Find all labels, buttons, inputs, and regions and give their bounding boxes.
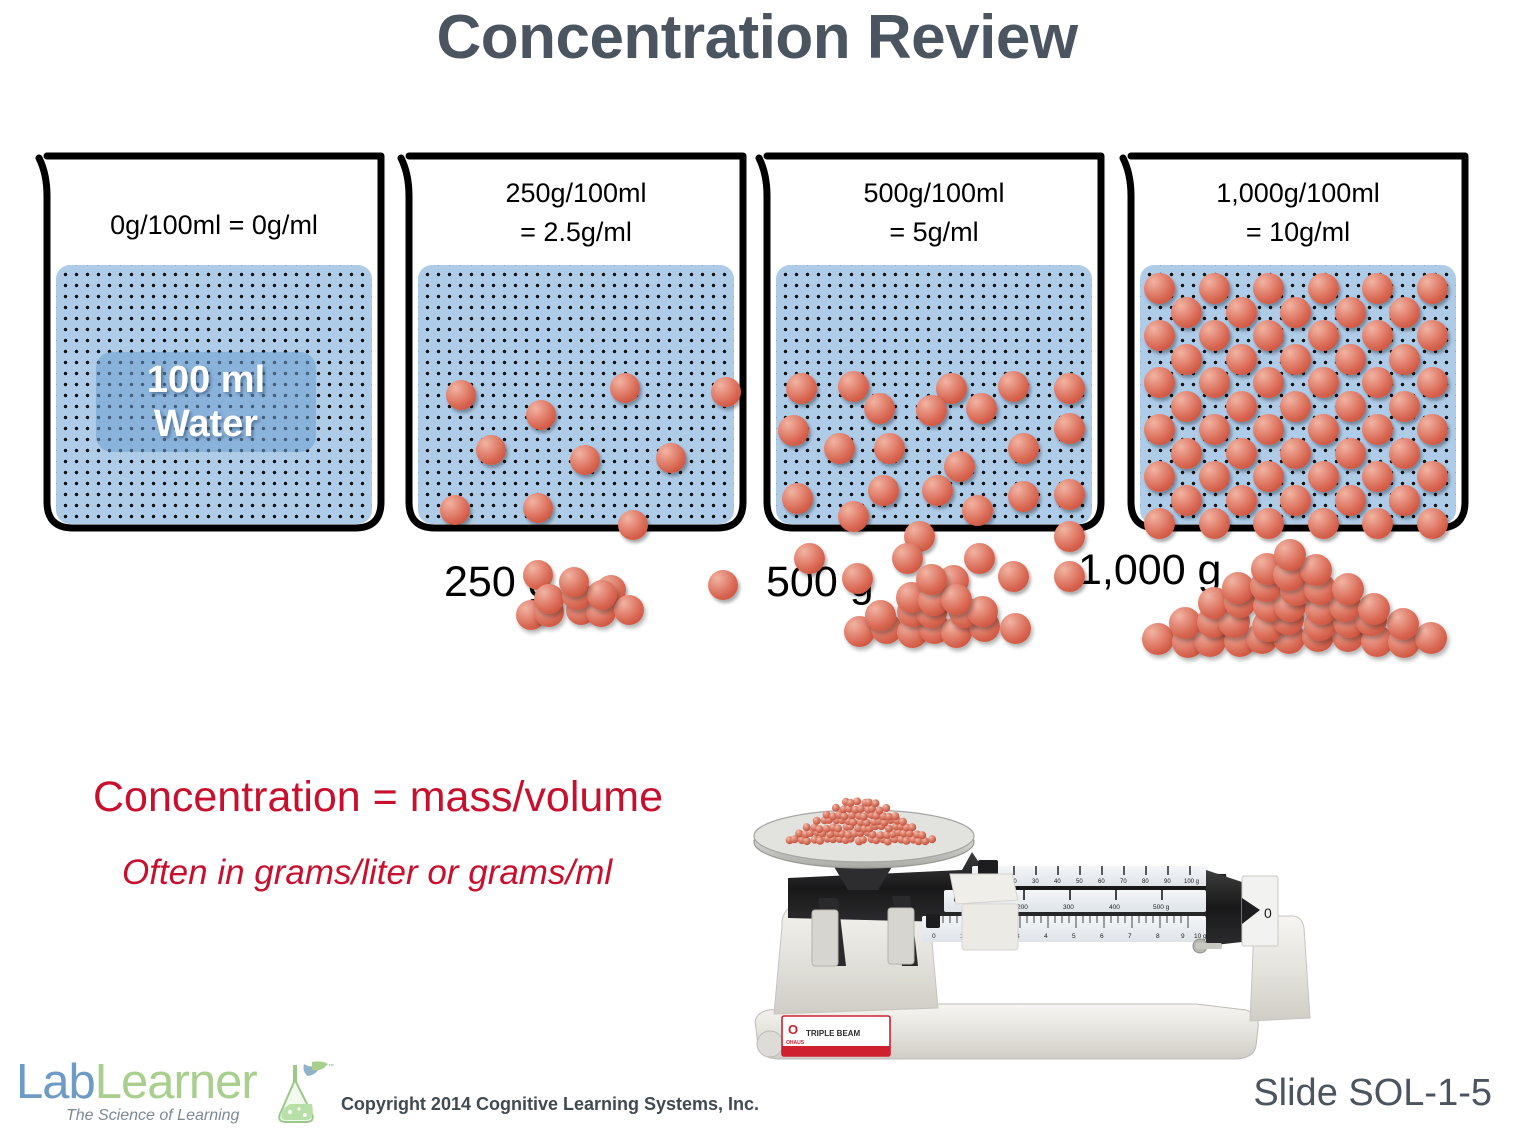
- solute-bead: [824, 433, 855, 464]
- solute-bead: [1308, 367, 1339, 398]
- solute-bead: [1280, 391, 1311, 422]
- svg-text:8: 8: [1156, 933, 1160, 940]
- solute-bead: [874, 433, 905, 464]
- solute-bead: [1308, 320, 1339, 351]
- solute-bead: [1199, 508, 1230, 539]
- solute-bead: [1308, 273, 1339, 304]
- solute-bead: [1417, 461, 1448, 492]
- leveling-foot: [757, 1031, 783, 1057]
- beaker-water: 100 ml Water 0g/100ml = 0g/ml: [38, 152, 390, 534]
- solute-bead: [1253, 320, 1284, 351]
- brand-badge-stripe: [782, 1046, 890, 1056]
- solute-bead: [1362, 273, 1393, 304]
- pan-bead: [872, 799, 880, 807]
- svg-text:5: 5: [1072, 933, 1076, 940]
- solute-bead: [916, 564, 947, 595]
- solute-bead: [1253, 367, 1284, 398]
- solute-bead: [1332, 573, 1364, 605]
- solute-bead: [1226, 344, 1257, 375]
- solute-bead: [1362, 414, 1393, 445]
- beaker-1000g: 1,000g/100ml = 10g/ml: [1122, 152, 1474, 534]
- tare-screw: [1196, 943, 1222, 949]
- solute-bead: [1054, 521, 1085, 552]
- solute-bead: [1199, 273, 1230, 304]
- pan-bead: [803, 837, 811, 845]
- svg-text:0: 0: [932, 933, 936, 940]
- svg-text:70: 70: [1120, 879, 1127, 885]
- solute-bead: [1417, 320, 1448, 351]
- solute-bead: [1389, 344, 1420, 375]
- brand-name-label: OHAUS: [786, 1040, 805, 1046]
- svg-text:60: 60: [1098, 879, 1105, 885]
- solute-bead: [1253, 273, 1284, 304]
- solute-bead: [1362, 320, 1393, 351]
- solute-bead: [1000, 613, 1031, 644]
- solute-bead: [1144, 414, 1175, 445]
- solute-bead: [1054, 373, 1085, 404]
- pan-bead: [902, 837, 910, 845]
- solute-bead: [1358, 593, 1390, 625]
- solute-bead: [998, 561, 1029, 592]
- solute-bead: [916, 395, 947, 426]
- solute-bead: [1226, 485, 1257, 516]
- pan-bead: [908, 823, 916, 831]
- solute-bead: [711, 377, 741, 407]
- solute-bead: [1144, 320, 1175, 351]
- svg-text:6: 6: [1100, 933, 1104, 940]
- solute-bead: [614, 595, 644, 625]
- rider-10g: [926, 914, 940, 928]
- svg-text:7: 7: [1128, 933, 1132, 940]
- concentration-units-note: Often in grams/liter or grams/ml: [122, 853, 612, 893]
- svg-text:300: 300: [1063, 904, 1074, 911]
- solute-bead: [1280, 438, 1311, 469]
- solute-bead: [656, 443, 686, 473]
- solute-bead: [1142, 623, 1174, 655]
- pan-bead: [875, 807, 883, 815]
- pan-bead: [832, 804, 840, 812]
- solute-bead: [1199, 414, 1230, 445]
- pan-bead: [891, 812, 899, 820]
- solute-bead: [786, 373, 817, 404]
- solute-bead: [1144, 273, 1175, 304]
- solute-bead: [1362, 508, 1393, 539]
- pan-bead: [840, 812, 848, 820]
- solute-bead: [618, 510, 648, 540]
- svg-text:30: 30: [1032, 879, 1039, 885]
- copyright-notice: Copyright 2014 Cognitive Learning System…: [0, 1094, 1100, 1115]
- svg-text:90: 90: [1164, 879, 1171, 885]
- pan-bead: [816, 837, 824, 845]
- solute-bead: [941, 584, 972, 615]
- solute-bead: [868, 475, 899, 506]
- solute-bead: [1280, 485, 1311, 516]
- solute-bead: [476, 435, 506, 465]
- solute-bead: [1389, 438, 1420, 469]
- solute-bead: [523, 493, 553, 523]
- solute-bead: [1144, 461, 1175, 492]
- brand-mark-icon: O: [788, 1022, 798, 1037]
- solute-bead: [1008, 433, 1039, 464]
- pan-bead: [803, 823, 811, 831]
- solute-bead: [842, 563, 873, 594]
- concentration-formula: Concentration = mass/volume: [93, 773, 663, 822]
- solute-bead: [440, 495, 470, 525]
- solute-bead: [1144, 367, 1175, 398]
- solute-bead: [838, 501, 869, 532]
- solute-bead: [1389, 485, 1420, 516]
- solute-bead: [570, 445, 600, 475]
- pan-bead: [853, 797, 861, 805]
- svg-text:400: 400: [1109, 904, 1120, 911]
- solute-bead: [1280, 297, 1311, 328]
- solute-bead: [944, 451, 975, 482]
- solute-bead: [962, 495, 993, 526]
- solute-bead: [864, 393, 895, 424]
- pan-link-right: [888, 908, 914, 964]
- triple-beam-balance-image: 102030 405060 708090 100 g 100200300 400…: [726, 778, 1356, 1098]
- svg-text:40: 40: [1054, 879, 1061, 885]
- svg-text:50: 50: [1076, 879, 1083, 885]
- solute-bead: [782, 483, 813, 514]
- solute-bead: [1335, 438, 1366, 469]
- solute-bead: [1171, 344, 1202, 375]
- solute-bead: [1335, 391, 1366, 422]
- pan-bead: [813, 817, 821, 825]
- brand-model-label: TRIPLE BEAM: [806, 1029, 861, 1038]
- logo-leaf-green: [312, 1061, 328, 1070]
- solute-bead: [838, 371, 869, 402]
- knife-edge-block: [950, 874, 1018, 904]
- pan-bead: [849, 818, 857, 826]
- solute-bead: [1171, 438, 1202, 469]
- solute-bead: [1308, 461, 1339, 492]
- solute-bead: [778, 415, 809, 446]
- solute-bead: [1415, 622, 1447, 654]
- slide-number: Slide SOL-1-5: [1253, 1072, 1492, 1115]
- page-title: Concentration Review: [0, 4, 1514, 72]
- solute-bead: [1417, 367, 1448, 398]
- pan-bead: [899, 818, 907, 826]
- svg-text:500 g: 500 g: [1153, 904, 1170, 911]
- solute-bead: [1199, 461, 1230, 492]
- solute-bead: [1387, 608, 1419, 640]
- svg-text:200: 200: [1017, 904, 1028, 911]
- damper-housing: [962, 904, 1018, 950]
- solute-bead: [1308, 508, 1339, 539]
- solute-bead: [1199, 320, 1230, 351]
- solute-bead: [1335, 297, 1366, 328]
- water-volume-badge: 100 ml Water: [96, 352, 316, 452]
- solute-bead: [610, 373, 640, 403]
- pan-bead: [918, 831, 926, 839]
- beam-pointer-arm: [1206, 870, 1242, 946]
- solute-bead: [1054, 479, 1085, 510]
- zero-mark-label: 0: [1264, 905, 1272, 921]
- solute-bead: [1008, 481, 1039, 512]
- solute-bead: [708, 570, 738, 600]
- solute-bead: [1417, 273, 1448, 304]
- solute-bead: [1280, 344, 1311, 375]
- solute-bead: [964, 543, 995, 574]
- pan-bead: [859, 836, 867, 844]
- balance-svg: 102030 405060 708090 100 g 100200300 400…: [726, 778, 1356, 1098]
- pan-bead: [860, 813, 868, 821]
- solute-bead: [1199, 367, 1230, 398]
- solute-bead: [1171, 485, 1202, 516]
- pan-bead: [834, 825, 842, 833]
- pan-bead: [928, 835, 936, 843]
- solute-bead: [1389, 297, 1420, 328]
- solute-bead: [526, 400, 556, 430]
- solute-bead: [1054, 561, 1085, 592]
- svg-text:4: 4: [1044, 933, 1048, 940]
- trademark-mark: ™: [328, 1063, 334, 1070]
- bead-pile-1000g: [1160, 540, 1420, 678]
- solute-bead: [446, 380, 476, 410]
- solute-bead: [1253, 414, 1284, 445]
- solute-bead: [1144, 508, 1175, 539]
- solute-bead: [1171, 297, 1202, 328]
- water-volume-line1: 100 ml: [147, 358, 265, 402]
- solute-bead: [1362, 461, 1393, 492]
- solute-bead: [1226, 297, 1257, 328]
- water-volume-line2: Water: [154, 402, 258, 446]
- svg-text:9: 9: [1181, 933, 1185, 940]
- solute-bead: [966, 393, 997, 424]
- beaker-250g: 250g/100ml = 2.5g/ml: [400, 152, 752, 534]
- solute-bead: [1362, 367, 1393, 398]
- solute-bead: [1417, 414, 1448, 445]
- solute-bead: [922, 475, 953, 506]
- solute-bead: [1417, 508, 1448, 539]
- solute-bead: [1171, 391, 1202, 422]
- solute-bead: [1226, 391, 1257, 422]
- pan-link-left: [812, 910, 838, 966]
- solute-bead: [794, 543, 825, 574]
- svg-text:80: 80: [1142, 879, 1149, 885]
- pan-bead: [882, 804, 890, 812]
- beaker-500g: 500g/100ml = 5g/ml: [758, 152, 1110, 534]
- solute-bead: [1335, 344, 1366, 375]
- solute-bead: [1253, 461, 1284, 492]
- solute-bead: [998, 371, 1029, 402]
- solute-bead: [1389, 391, 1420, 422]
- svg-text:100 g: 100 g: [1184, 879, 1199, 885]
- solute-bead: [1226, 438, 1257, 469]
- solute-bead: [1253, 508, 1284, 539]
- solute-bead: [1335, 485, 1366, 516]
- solute-bead: [1308, 414, 1339, 445]
- pan-bead: [815, 825, 823, 833]
- solute-bead: [1054, 413, 1085, 444]
